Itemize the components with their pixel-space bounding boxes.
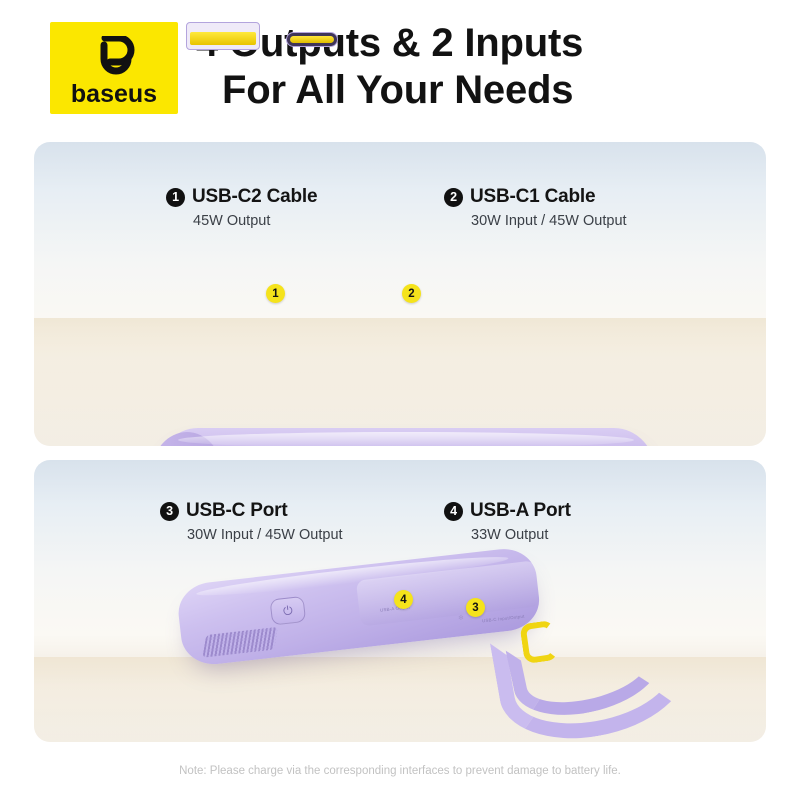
caption-subtitle: 45W Output [193,213,317,229]
headline-line-2: For All Your Needs [196,67,776,114]
header: baseus 4 Outputs & 2 Inputs For All Your… [0,0,800,140]
caption-title-row: 3 USB-C Port [160,500,343,522]
snowflake-icon: ❄ [458,614,464,622]
baseus-logo: baseus [50,22,178,114]
caption-title-row: 2 USB-C1 Cable [444,186,627,208]
baseus-b-icon [86,36,142,78]
caption-usb-c2-cable: 1 USB-C2 Cable 45W Output [166,186,317,229]
number-marker-4: 4 [444,502,463,521]
caption-title: USB-C Port [186,500,287,522]
caption-title-row: 4 USB-A Port [444,500,571,522]
callout-badge-3: 3 [466,598,485,617]
power-button[interactable]: ⏻ [269,596,306,626]
footer-note: Note: Please charge via the correspondin… [0,765,800,777]
caption-usb-c1-cable: 2 USB-C1 Cable 30W Input / 45W Output [444,186,627,229]
caption-title: USB-C1 Cable [470,186,595,208]
usb-a-port [186,22,260,50]
power-bank-front-view: ⚡ [156,428,656,446]
caption-subtitle: 33W Output [471,527,571,543]
callout-badge-1: 1 [266,284,285,303]
number-marker-3: 3 [160,502,179,521]
caption-subtitle: 30W Input / 45W Output [471,213,627,229]
usb-c-port [286,32,338,47]
number-marker-1: 1 [166,188,185,207]
panel-cables: ⚡ [34,142,766,446]
caption-subtitle: 30W Input / 45W Output [187,527,343,543]
callout-badge-4: 4 [394,590,413,609]
caption-usb-c-port: 3 USB-C Port 30W Input / 45W Output [160,500,343,543]
caption-title: USB-A Port [470,500,571,522]
callout-badge-2: 2 [402,284,421,303]
yellow-strap-loop [519,620,558,664]
baseus-wordmark: baseus [62,80,166,108]
caption-title: USB-C2 Cable [192,186,317,208]
page-title: 4 Outputs & 2 Inputs For All Your Needs [196,20,776,114]
caption-usb-a-port: 4 USB-A Port 33W Output [444,500,571,543]
number-marker-2: 2 [444,188,463,207]
surface-shadow [34,318,766,446]
cable-ribs-texture [202,627,277,658]
svg-text:baseus: baseus [71,80,157,108]
caption-title-row: 1 USB-C2 Cable [166,186,317,208]
